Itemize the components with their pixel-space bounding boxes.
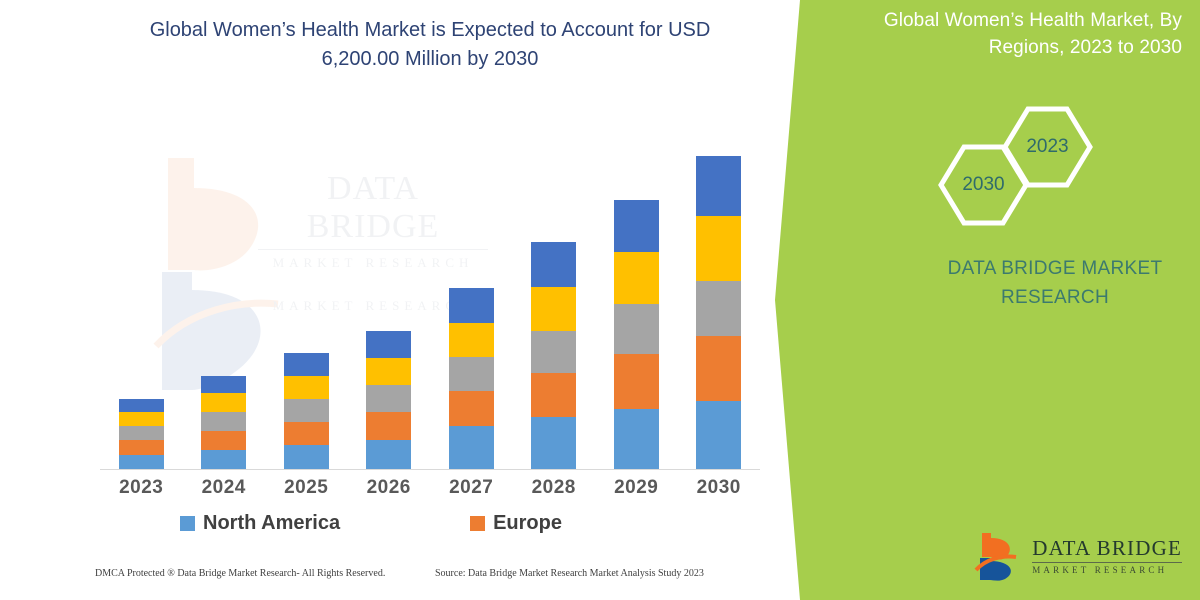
- chart-legend: North America Europe: [180, 512, 680, 535]
- bar-segment-2030-2: [696, 281, 741, 336]
- x-label-2030: 2030: [679, 477, 759, 499]
- dmca-notice: DMCA Protected ® Data Bridge Market Rese…: [95, 568, 435, 579]
- bar-segment-2023-1: [119, 440, 164, 455]
- bar-segment-2026-2: [366, 385, 411, 412]
- bar-segment-2025-3: [284, 376, 329, 399]
- bar-segment-2028-3: [531, 287, 576, 331]
- bar-segment-2027-2: [449, 357, 494, 391]
- bar-segment-2024-2: [201, 412, 246, 431]
- panel-title: Global Women’s Health Market, By Regions…: [852, 8, 1182, 62]
- page-title: Global Women’s Health Market is Expected…: [110, 16, 750, 74]
- legend-label-north-america: North America: [203, 512, 340, 535]
- bar-segment-2026-0: [366, 440, 411, 469]
- bar-segment-2027-4: [449, 288, 494, 323]
- legend-item-europe[interactable]: Europe: [470, 512, 562, 535]
- legend-swatch-europe: [470, 516, 485, 531]
- stacked-bar-chart: [100, 100, 760, 470]
- bar-segment-2023-3: [119, 412, 164, 426]
- bar-2026[interactable]: [366, 331, 411, 469]
- x-label-2029: 2029: [596, 477, 676, 499]
- x-label-2028: 2028: [514, 477, 594, 499]
- bar-segment-2024-1: [201, 431, 246, 450]
- bar-segment-2029-0: [614, 409, 659, 469]
- bar-segment-2028-1: [531, 373, 576, 417]
- source-note: Source: Data Bridge Market Research Mark…: [435, 568, 765, 579]
- x-axis-labels: 20232024202520262027202820292030: [100, 477, 760, 499]
- infographic-root: Global Women’s Health Market is Expected…: [0, 0, 1200, 600]
- bar-segment-2025-2: [284, 399, 329, 422]
- legend-swatch-north-america: [180, 516, 195, 531]
- bar-segment-2024-3: [201, 393, 246, 412]
- bar-group: [100, 100, 760, 469]
- legend-item-north-america[interactable]: North America: [180, 512, 340, 535]
- legend-label-europe: Europe: [493, 512, 562, 535]
- logo-sub-text: MARKET RESEARCH: [1032, 566, 1182, 575]
- bar-segment-2029-3: [614, 252, 659, 304]
- bar-2029[interactable]: [614, 200, 659, 469]
- bar-segment-2025-0: [284, 445, 329, 469]
- hexagon-2030: 2030: [936, 143, 1031, 227]
- bar-segment-2027-0: [449, 426, 494, 469]
- bar-segment-2023-2: [119, 426, 164, 440]
- bar-segment-2030-3: [696, 216, 741, 281]
- bar-segment-2028-0: [531, 417, 576, 469]
- bar-segment-2025-4: [284, 353, 329, 376]
- data-bridge-logo: DATA BRIDGE MARKET RESEARCH: [974, 530, 1182, 582]
- x-label-2026: 2026: [349, 477, 429, 499]
- x-label-2027: 2027: [431, 477, 511, 499]
- x-label-2023: 2023: [101, 477, 181, 499]
- bar-segment-2026-4: [366, 331, 411, 358]
- bar-segment-2027-1: [449, 391, 494, 426]
- bar-segment-2026-3: [366, 358, 411, 385]
- bar-segment-2027-3: [449, 323, 494, 357]
- bar-segment-2024-0: [201, 450, 246, 469]
- bar-segment-2030-4: [696, 156, 741, 216]
- bar-2028[interactable]: [531, 242, 576, 469]
- green-side-panel: Global Women’s Health Market, By Regions…: [760, 0, 1200, 600]
- hexagon-group: 2023 2030: [928, 105, 1108, 215]
- logo-main-text: DATA BRIDGE: [1032, 538, 1182, 559]
- bar-2030[interactable]: [696, 156, 741, 469]
- hexagon-2030-label: 2030: [962, 174, 1004, 196]
- logo-wordmark: DATA BRIDGE MARKET RESEARCH: [1032, 538, 1182, 575]
- bar-2023[interactable]: [119, 399, 164, 469]
- logo-b-mark: [974, 530, 1024, 582]
- bar-segment-2030-0: [696, 401, 741, 469]
- logo-b-icon: [974, 530, 1024, 582]
- panel-brand-text: DATA BRIDGE MARKET RESEARCH: [925, 255, 1185, 312]
- bar-segment-2028-4: [531, 242, 576, 287]
- bar-segment-2024-4: [201, 376, 246, 393]
- bar-segment-2029-4: [614, 200, 659, 252]
- bar-2025[interactable]: [284, 353, 329, 469]
- bar-segment-2026-1: [366, 412, 411, 440]
- bar-segment-2028-2: [531, 331, 576, 373]
- x-label-2025: 2025: [266, 477, 346, 499]
- logo-rule: [1032, 562, 1182, 563]
- bar-segment-2025-1: [284, 422, 329, 445]
- bar-segment-2029-1: [614, 354, 659, 409]
- x-axis-line: [100, 469, 760, 470]
- footer: DMCA Protected ® Data Bridge Market Rese…: [95, 568, 765, 579]
- bar-segment-2029-2: [614, 304, 659, 354]
- bar-segment-2023-0: [119, 455, 164, 469]
- bar-segment-2023-4: [119, 399, 164, 412]
- bar-segment-2030-1: [696, 336, 741, 401]
- x-label-2024: 2024: [184, 477, 264, 499]
- bar-2027[interactable]: [449, 288, 494, 469]
- hexagon-2023-label: 2023: [1026, 136, 1068, 158]
- bar-2024[interactable]: [201, 376, 246, 469]
